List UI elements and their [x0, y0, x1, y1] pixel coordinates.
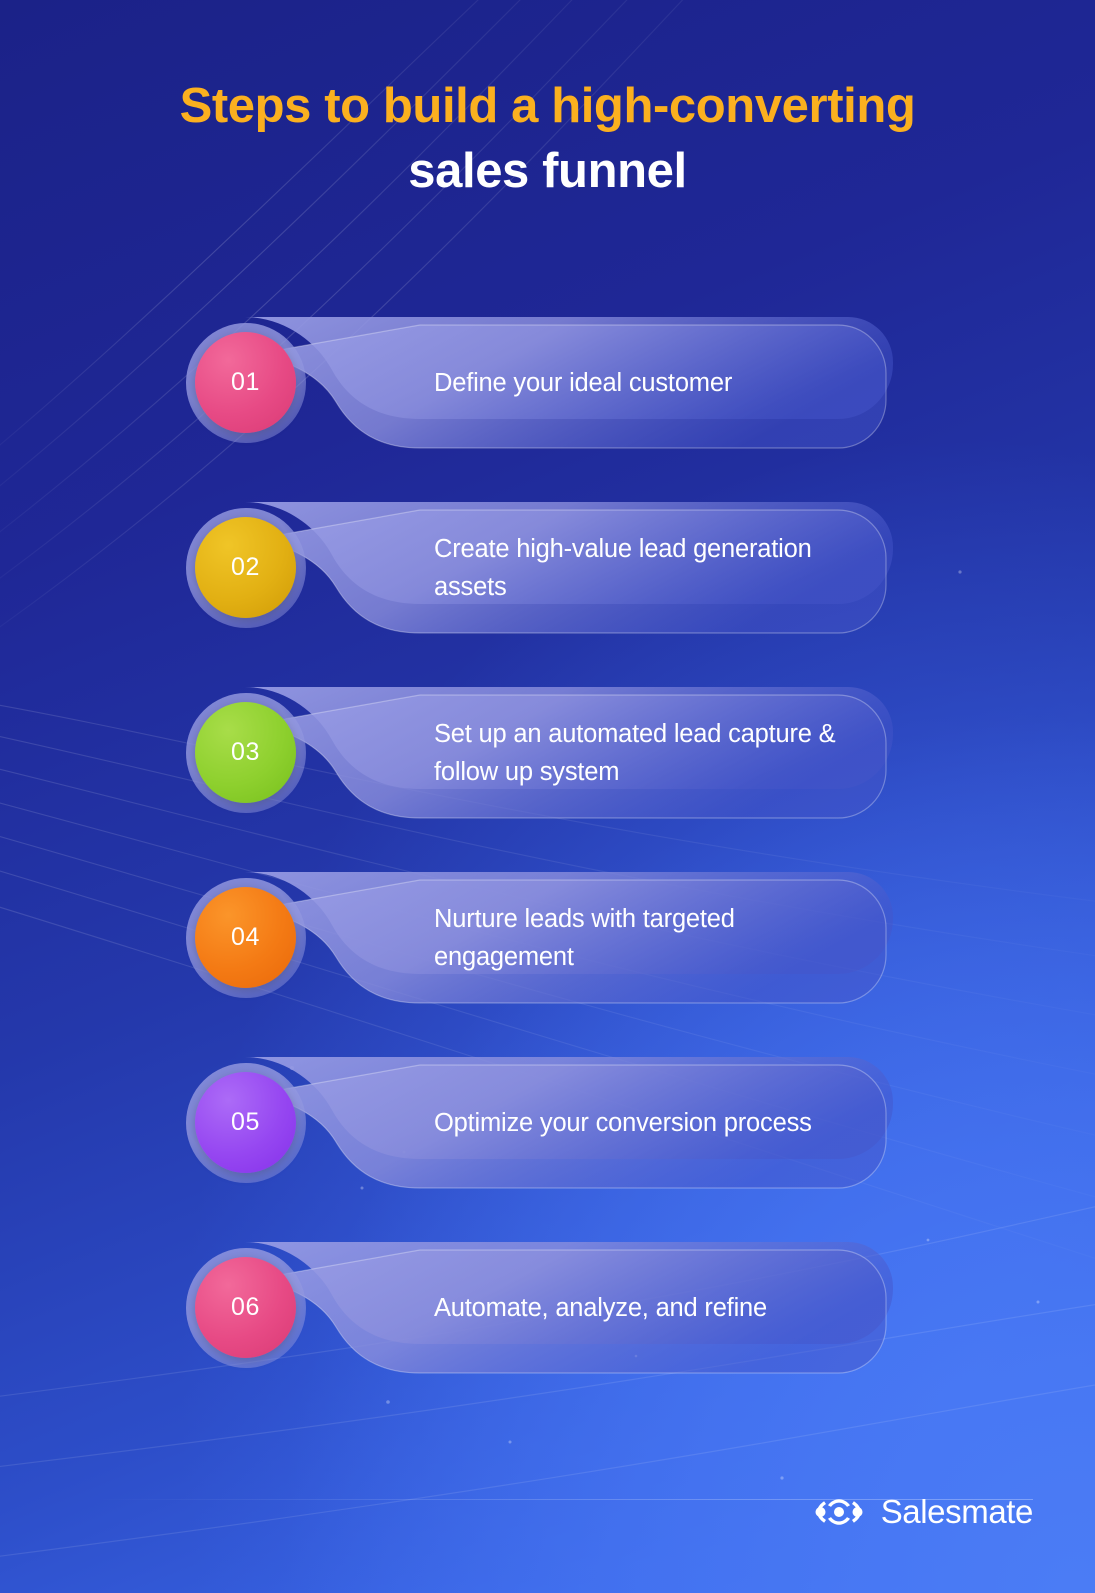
step-number-badge-04: 04: [195, 887, 296, 988]
step-number-03: 03: [231, 738, 260, 767]
step-number-02: 02: [231, 553, 260, 582]
step-label-03: Set up an automated lead capture & follo…: [434, 682, 854, 824]
step-label-04: Nurture leads with targeted engagement: [434, 867, 854, 1009]
step-number-badge-02: 02: [195, 517, 296, 618]
step-number-05: 05: [231, 1108, 260, 1137]
step-label-01: Define your ideal customer: [434, 312, 854, 454]
step-number-badge-05: 05: [195, 1072, 296, 1173]
step-number-badge-06: 06: [195, 1257, 296, 1358]
step-item-06[interactable]: 06 Automate, analyze, and refine: [184, 1237, 898, 1379]
step-item-01[interactable]: 01 Define your ideal customer: [184, 312, 898, 454]
step-label-05: Optimize your conversion process: [434, 1052, 854, 1194]
steps-list: 01 Define your ideal customer: [0, 312, 1095, 1379]
step-item-03[interactable]: 03 Set up an automated lead capture & fo…: [184, 682, 898, 824]
step-item-05[interactable]: 05 Optimize your conversion process: [184, 1052, 898, 1194]
step-number-06: 06: [231, 1293, 260, 1322]
step-number-01: 01: [231, 368, 260, 397]
step-label-06: Automate, analyze, and refine: [434, 1237, 854, 1379]
salesmate-logo-icon: [814, 1495, 864, 1529]
infographic-poster: Steps to build a high-converting sales f…: [0, 0, 1095, 1593]
step-number-badge-03: 03: [195, 702, 296, 803]
page-title-line-1: Steps to build a high-converting: [0, 74, 1095, 139]
step-label-02: Create high-value lead generation assets: [434, 497, 854, 639]
brand-name: Salesmate: [881, 1493, 1033, 1531]
step-number-badge-01: 01: [195, 332, 296, 433]
step-item-04[interactable]: 04 Nurture leads with targeted engagemen…: [184, 867, 898, 1009]
step-item-02[interactable]: 02 Create high-value lead generation ass…: [184, 497, 898, 639]
step-number-04: 04: [231, 923, 260, 952]
brand-footer: Salesmate: [814, 1493, 1033, 1531]
page-title: Steps to build a high-converting sales f…: [0, 74, 1095, 203]
page-title-line-2: sales funnel: [0, 139, 1095, 204]
